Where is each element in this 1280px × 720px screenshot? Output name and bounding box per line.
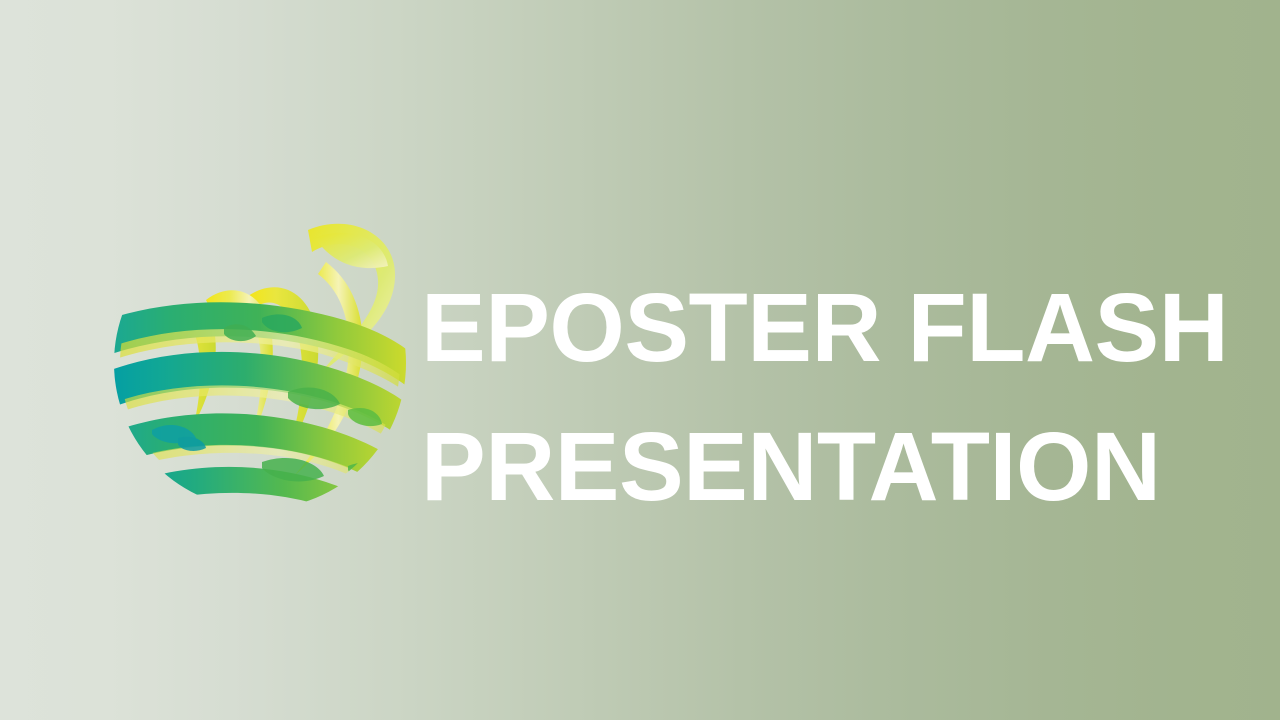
slide-title: EPOSTER FLASH PRESENTATION [421, 258, 1221, 536]
title-line-2: PRESENTATION [421, 397, 1221, 536]
title-slide: EPOSTER FLASH PRESENTATION [0, 0, 1280, 720]
globe-ribbon-logo [112, 200, 412, 520]
title-line-1: EPOSTER FLASH [421, 258, 1221, 397]
